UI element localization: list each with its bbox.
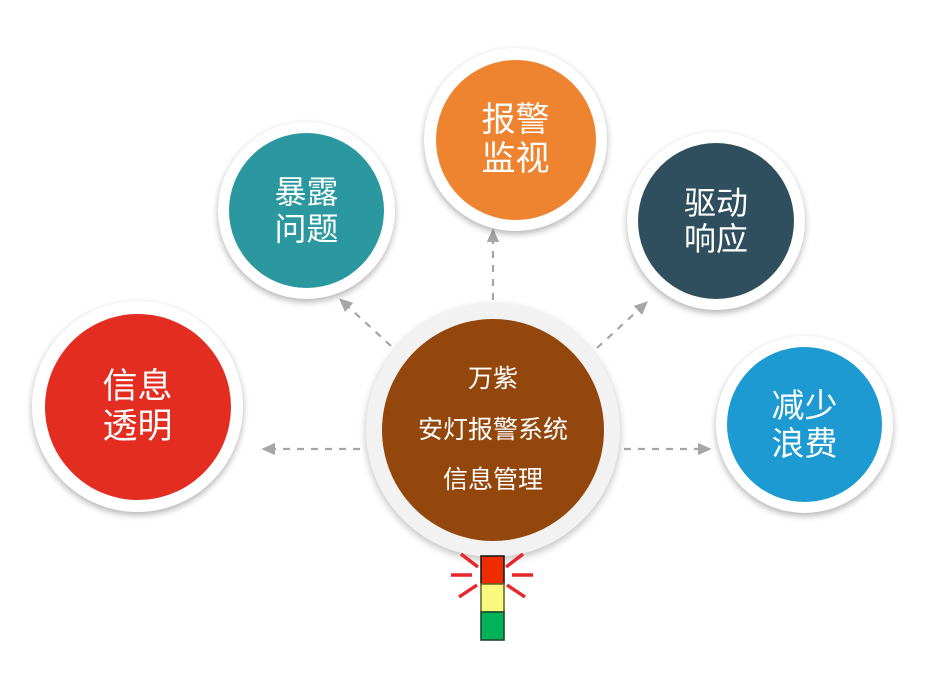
yellow-lamp	[481, 584, 504, 612]
node-drive-response[interactable]: 驱动 响应	[627, 132, 805, 310]
node-label-line-2: 浪费	[772, 425, 838, 463]
node-center-andon-system-disc: 万紫 安灯报警系统 信息管理	[382, 319, 604, 541]
node-expose-problems[interactable]: 暴露 问题	[218, 122, 395, 299]
node-reduce-waste[interactable]: 减少 浪费	[716, 336, 893, 513]
node-info-transparency[interactable]: 信息 透明	[32, 301, 243, 512]
andon-light-icon	[437, 542, 547, 647]
node-label-line-1: 暴露	[274, 174, 338, 210]
node-info-transparency-disc: 信息 透明	[45, 314, 231, 500]
arrow-center-to-expose	[341, 300, 391, 346]
node-label-line-1: 驱动	[684, 185, 748, 221]
node-center-andon-system[interactable]: 万紫 安灯报警系统 信息管理	[366, 303, 620, 557]
node-label-line-1: 减少	[772, 387, 838, 425]
arrow-center-to-drive	[597, 303, 646, 348]
node-drive-response-disc: 驱动 响应	[638, 143, 794, 299]
node-alarm-monitoring-disc: 报警 监视	[436, 60, 596, 220]
center-label-line-3: 信息管理	[443, 466, 543, 495]
node-label-line-1: 报警	[482, 101, 550, 140]
node-expose-problems-disc: 暴露 问题	[229, 133, 384, 288]
node-label-line-1: 信息	[102, 367, 172, 407]
node-alarm-monitoring[interactable]: 报警 监视	[424, 48, 607, 231]
node-label-line-2: 透明	[102, 407, 172, 447]
node-label-line-2: 响应	[684, 221, 748, 257]
node-reduce-waste-disc: 减少 浪费	[727, 347, 882, 502]
center-label-line-2: 安灯报警系统	[418, 416, 568, 445]
node-label-line-2: 监视	[482, 140, 550, 179]
diagram-canvas: 信息 透明 暴露 问题 报警 监视 驱动 响应 减少 浪费 万紫 安灯报警系统 …	[0, 0, 939, 680]
node-label-line-2: 问题	[274, 211, 338, 247]
center-label-line-1: 万紫	[468, 365, 518, 394]
red-lamp	[481, 556, 504, 584]
green-lamp	[481, 612, 504, 640]
